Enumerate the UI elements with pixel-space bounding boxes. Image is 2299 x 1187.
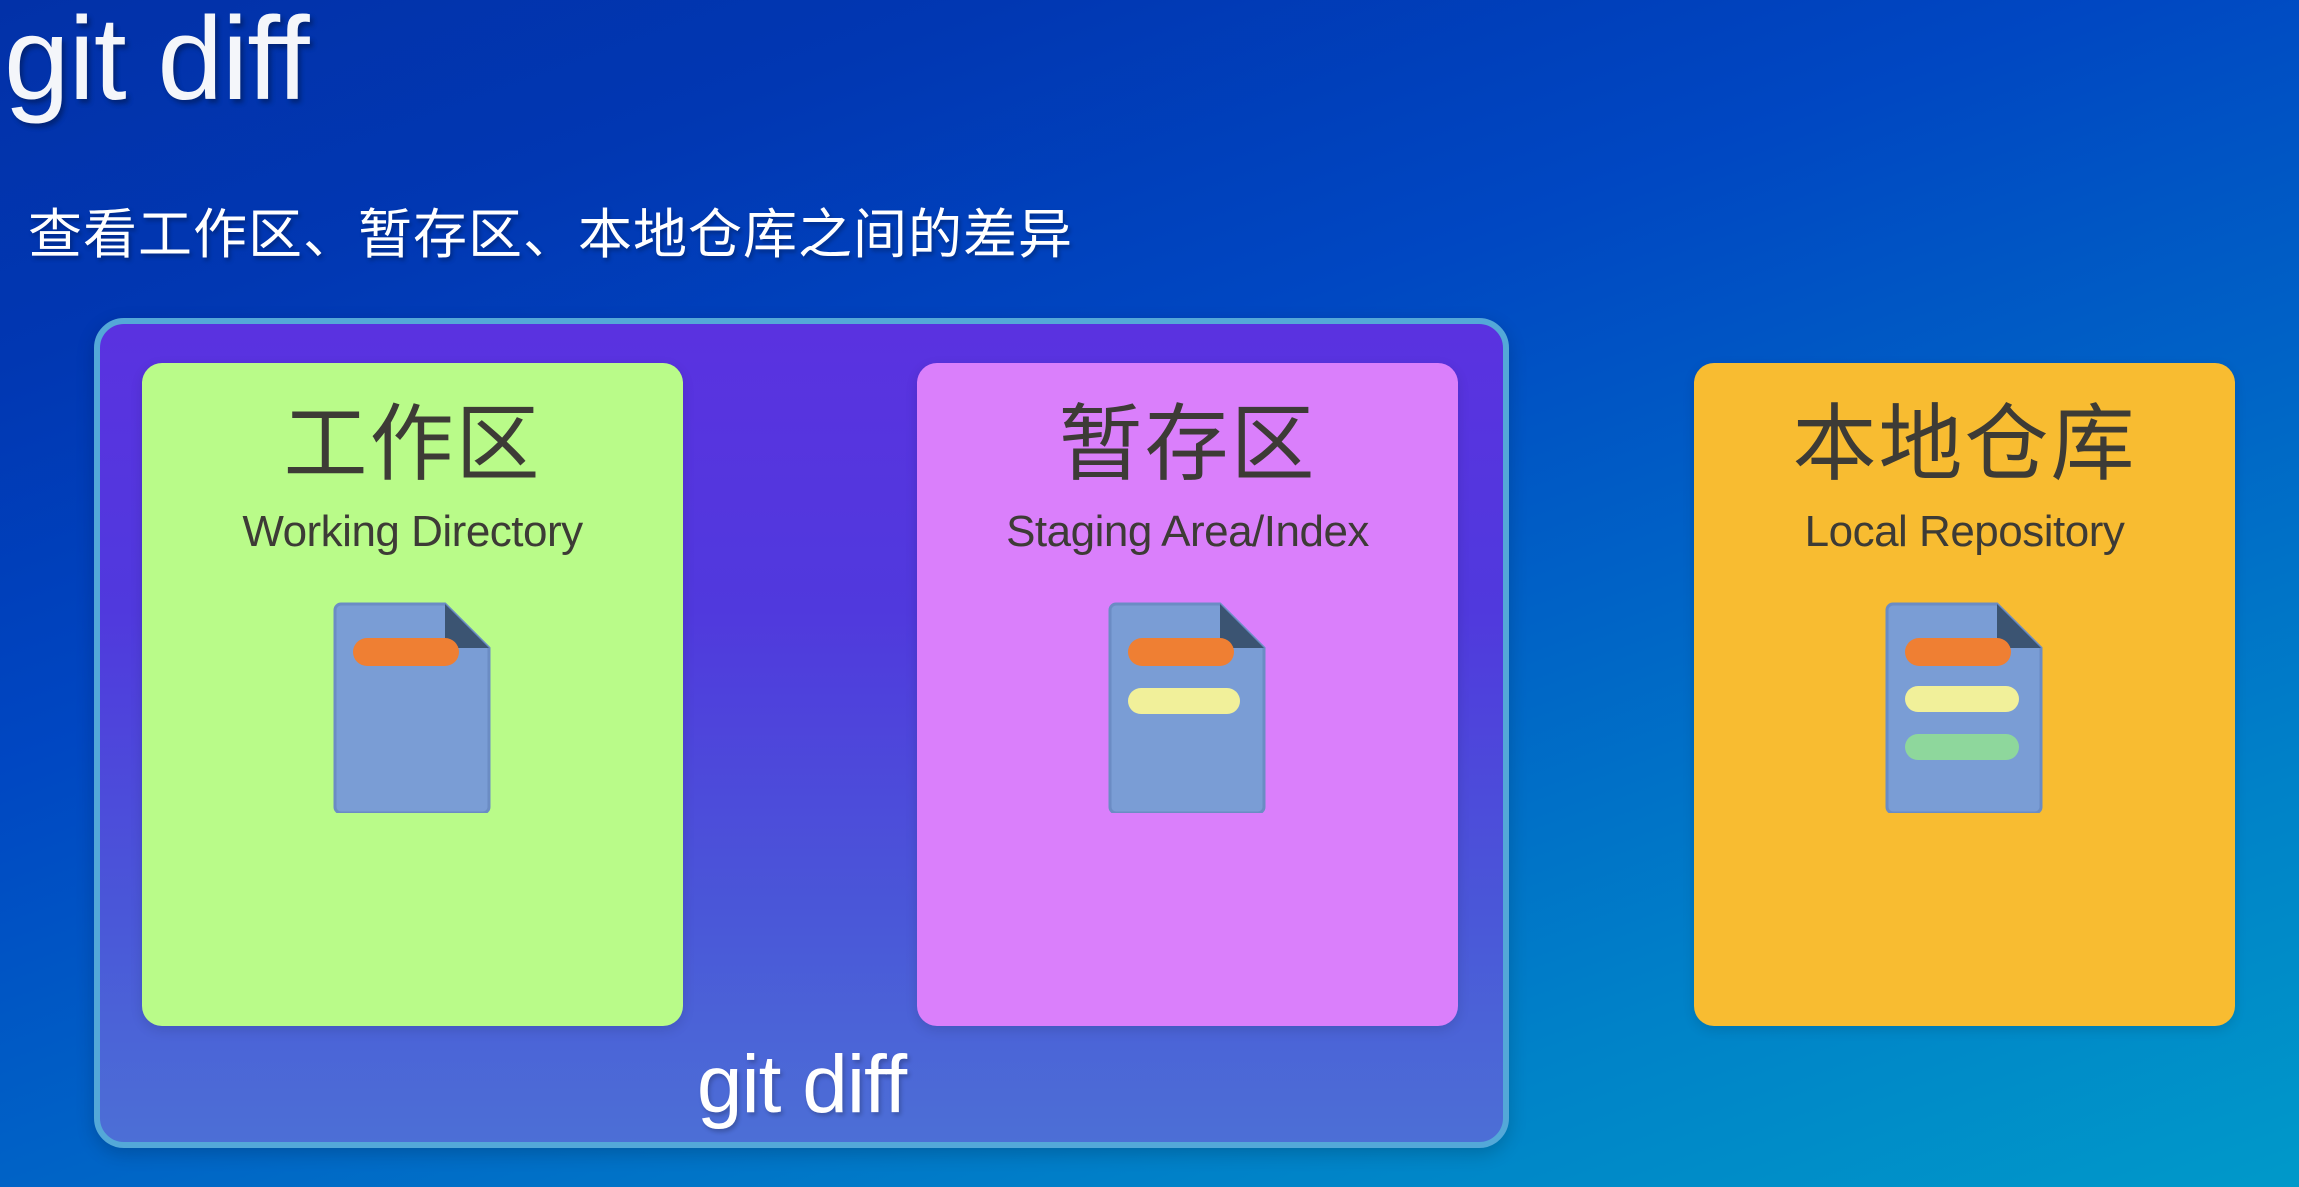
- file-document-icon: [331, 598, 495, 813]
- card-staging-area[interactable]: 暂存区 Staging Area/Index: [917, 363, 1458, 1026]
- card-repository-title-en: Local Repository: [1694, 508, 2235, 556]
- card-working-title-cn: 工作区: [142, 399, 683, 490]
- slide-root: git diff 查看工作区、暂存区、本地仓库之间的差异 git diff 工作…: [0, 0, 2299, 1187]
- card-staging-title-cn: 暂存区: [917, 399, 1458, 490]
- card-repository-title-cn: 本地仓库: [1694, 399, 2235, 490]
- page-subtitle: 查看工作区、暂存区、本地仓库之间的差异: [28, 206, 1073, 265]
- card-staging-title-en: Staging Area/Index: [917, 508, 1458, 556]
- doc-wrap-working: [142, 598, 683, 813]
- file-document-icon: [1883, 598, 2047, 813]
- group-label-git-diff: git diff: [100, 1044, 1503, 1126]
- doc-wrap-repository: [1694, 598, 2235, 813]
- doc-wrap-staging: [917, 598, 1458, 813]
- card-working-title-en: Working Directory: [142, 508, 683, 556]
- page-title: git diff: [4, 0, 309, 134]
- card-working-directory[interactable]: 工作区 Working Directory: [142, 363, 683, 1026]
- file-document-icon: [1106, 598, 1270, 813]
- card-local-repository[interactable]: 本地仓库 Local Repository: [1694, 363, 2235, 1026]
